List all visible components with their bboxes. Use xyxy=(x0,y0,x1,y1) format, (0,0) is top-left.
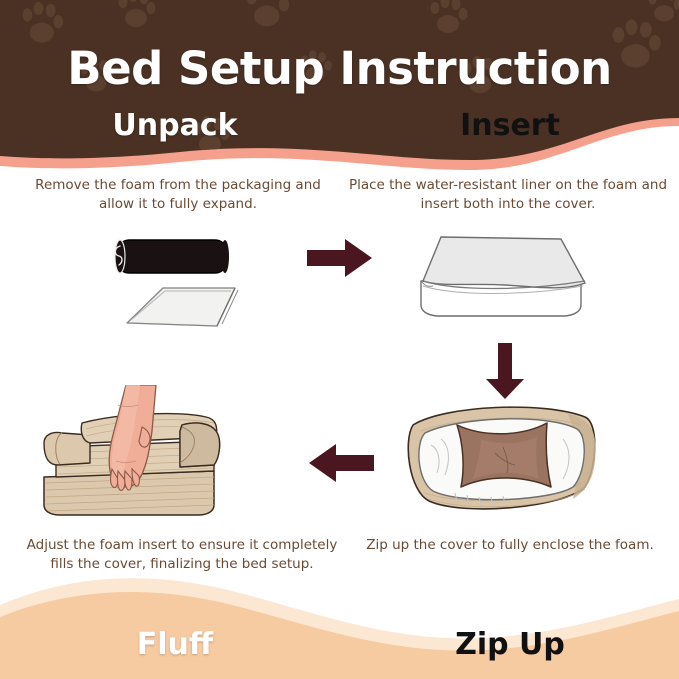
foam-slab-with-liner-illustration xyxy=(415,225,605,340)
step-heading-insert: Insert xyxy=(390,108,630,143)
arrow-down-icon xyxy=(483,341,527,401)
step-caption-unpack: Remove the foam from the packaging and a… xyxy=(18,176,338,214)
rolled-foam-icon xyxy=(115,240,229,273)
step-heading-fluff: Fluff xyxy=(55,627,295,662)
page-title: Bed Setup Instruction xyxy=(0,42,679,95)
step-caption-fluff: Adjust the foam insert to ensure it comp… xyxy=(22,536,342,574)
liner-sheet-icon xyxy=(127,288,238,326)
foam-slab-icon xyxy=(421,237,585,316)
open-bed-cover-with-foam-illustration xyxy=(395,395,610,520)
arrow-left-icon xyxy=(306,441,376,485)
step-caption-zipup: Zip up the cover to fully enclose the fo… xyxy=(360,536,660,555)
infographic-root: Bed Setup Instruction Unpack Insert Zip … xyxy=(0,0,679,679)
step-caption-insert: Place the water-resistant liner on the f… xyxy=(348,176,668,214)
rolled-foam-and-liner-illustration xyxy=(95,228,295,338)
step-heading-zipup: Zip Up xyxy=(390,627,630,662)
header-wave-background xyxy=(0,0,679,200)
bed-cover-icon xyxy=(408,407,596,509)
step-heading-unpack: Unpack xyxy=(55,108,295,143)
hand-pressing-bed-illustration xyxy=(30,385,270,525)
arrow-right-icon xyxy=(305,236,375,280)
